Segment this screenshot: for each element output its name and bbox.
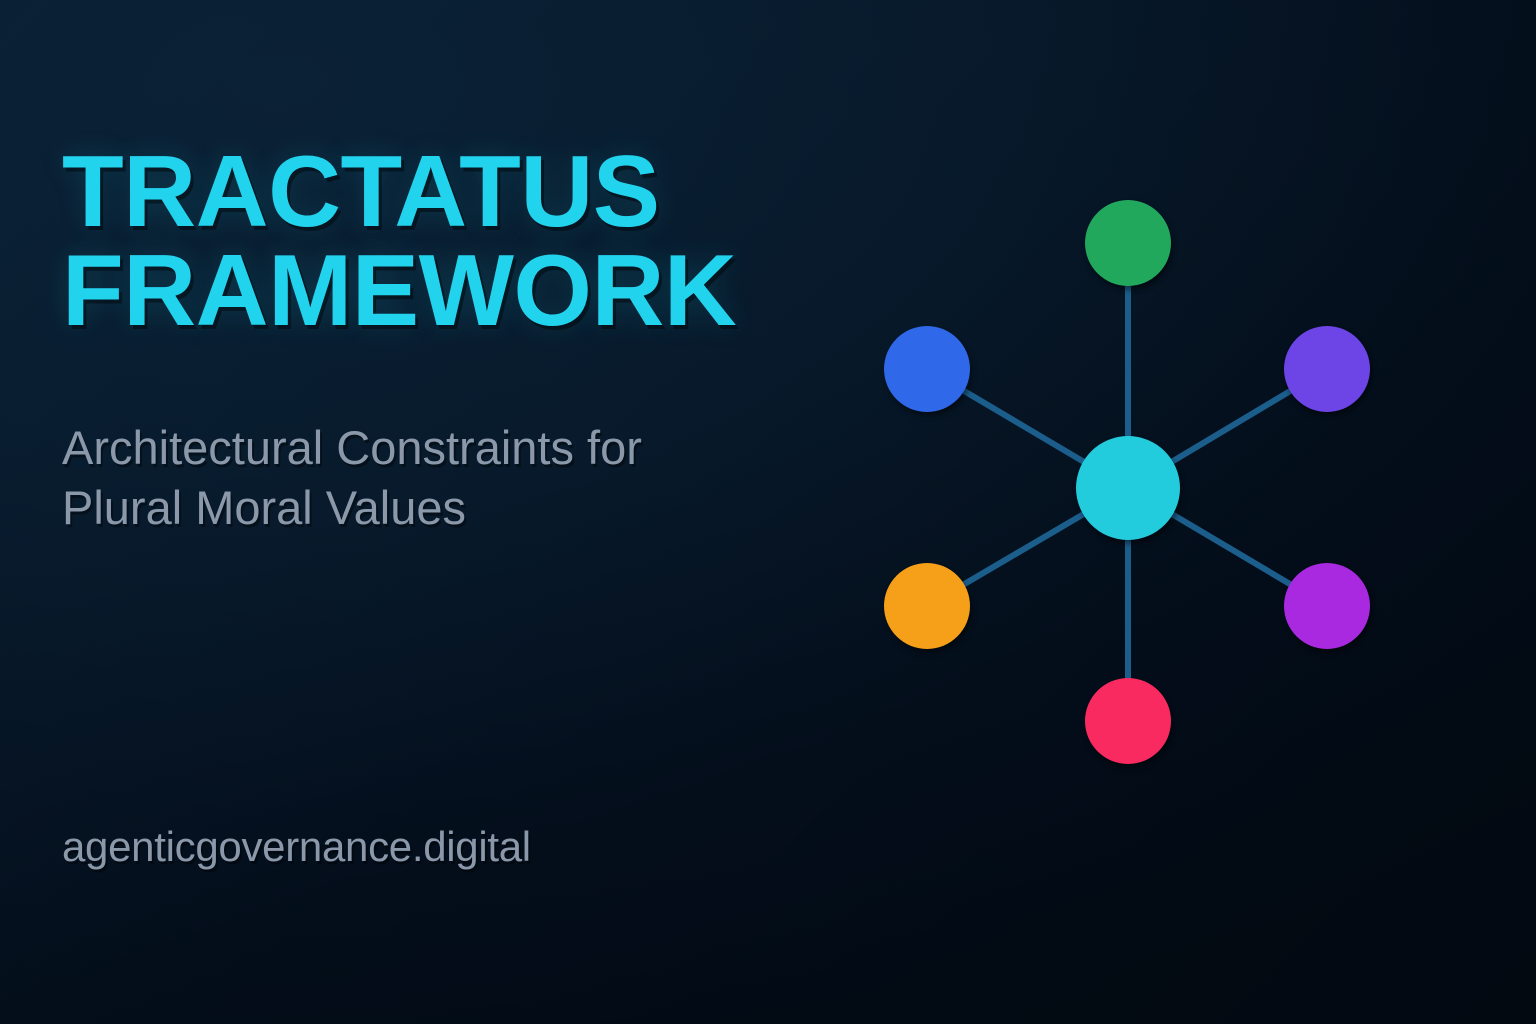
node-diagram [832,150,1432,810]
page-subtitle: Architectural Constraints for Plural Mor… [62,418,802,538]
magenta-node [1284,563,1370,649]
page-title: TRACTATUS FRAMEWORK [62,143,736,341]
central-hub-node [1076,436,1180,540]
slide-canvas: TRACTATUS FRAMEWORK Architectural Constr… [0,0,1536,1024]
node-diagram-svg [832,150,1432,810]
indigo-node [1284,326,1370,412]
text-column: TRACTATUS FRAMEWORK Architectural Constr… [62,0,842,1024]
green-node [1085,200,1171,286]
orange-node [884,563,970,649]
blue-node [884,326,970,412]
nodes-layer [884,200,1370,764]
pink-node [1085,678,1171,764]
footer-url: agenticgovernance.digital [62,822,531,872]
